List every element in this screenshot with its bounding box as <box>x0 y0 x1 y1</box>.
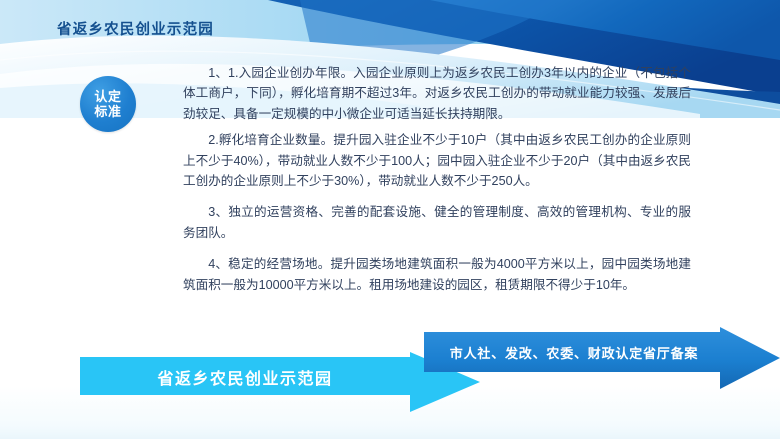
criteria-paragraph-4: 4、稳定的经营场地。提升园类场地建筑面积一般为4000平方米以上，园中园类场地建… <box>183 254 691 295</box>
arrow-cyan-shape <box>80 352 480 412</box>
criteria-badge: 认定 标准 <box>80 76 136 132</box>
slide-canvas: 省返乡农民创业示范园 认定 标准 1、1.入园企业创办年限。入园企业原则上为返乡… <box>0 0 780 439</box>
flow-arrow-primary <box>80 352 480 412</box>
page-title: 省返乡农民创业示范园 <box>57 18 214 39</box>
badge-line-2: 标准 <box>94 104 121 119</box>
criteria-paragraph-2: 2.孵化培育企业数量。提升园入驻企业不少于10户（其中由返乡农民工创办的企业原则… <box>183 130 691 191</box>
criteria-text-block: 1、1.入园企业创办年限。入园企业原则上为返乡农民工创办3年以内的企业（不包括个… <box>183 63 691 295</box>
arrow-blue-shape <box>424 327 780 389</box>
flow-arrow-secondary <box>424 327 780 389</box>
criteria-paragraph-3: 3、独立的运营资格、完善的配套设施、健全的管理制度、高效的管理机构、专业的服务团… <box>183 202 691 243</box>
badge-line-1: 认定 <box>94 89 121 104</box>
criteria-paragraph-1: 1、1.入园企业创办年限。入园企业原则上为返乡农民工创办3年以内的企业（不包括个… <box>183 63 691 124</box>
